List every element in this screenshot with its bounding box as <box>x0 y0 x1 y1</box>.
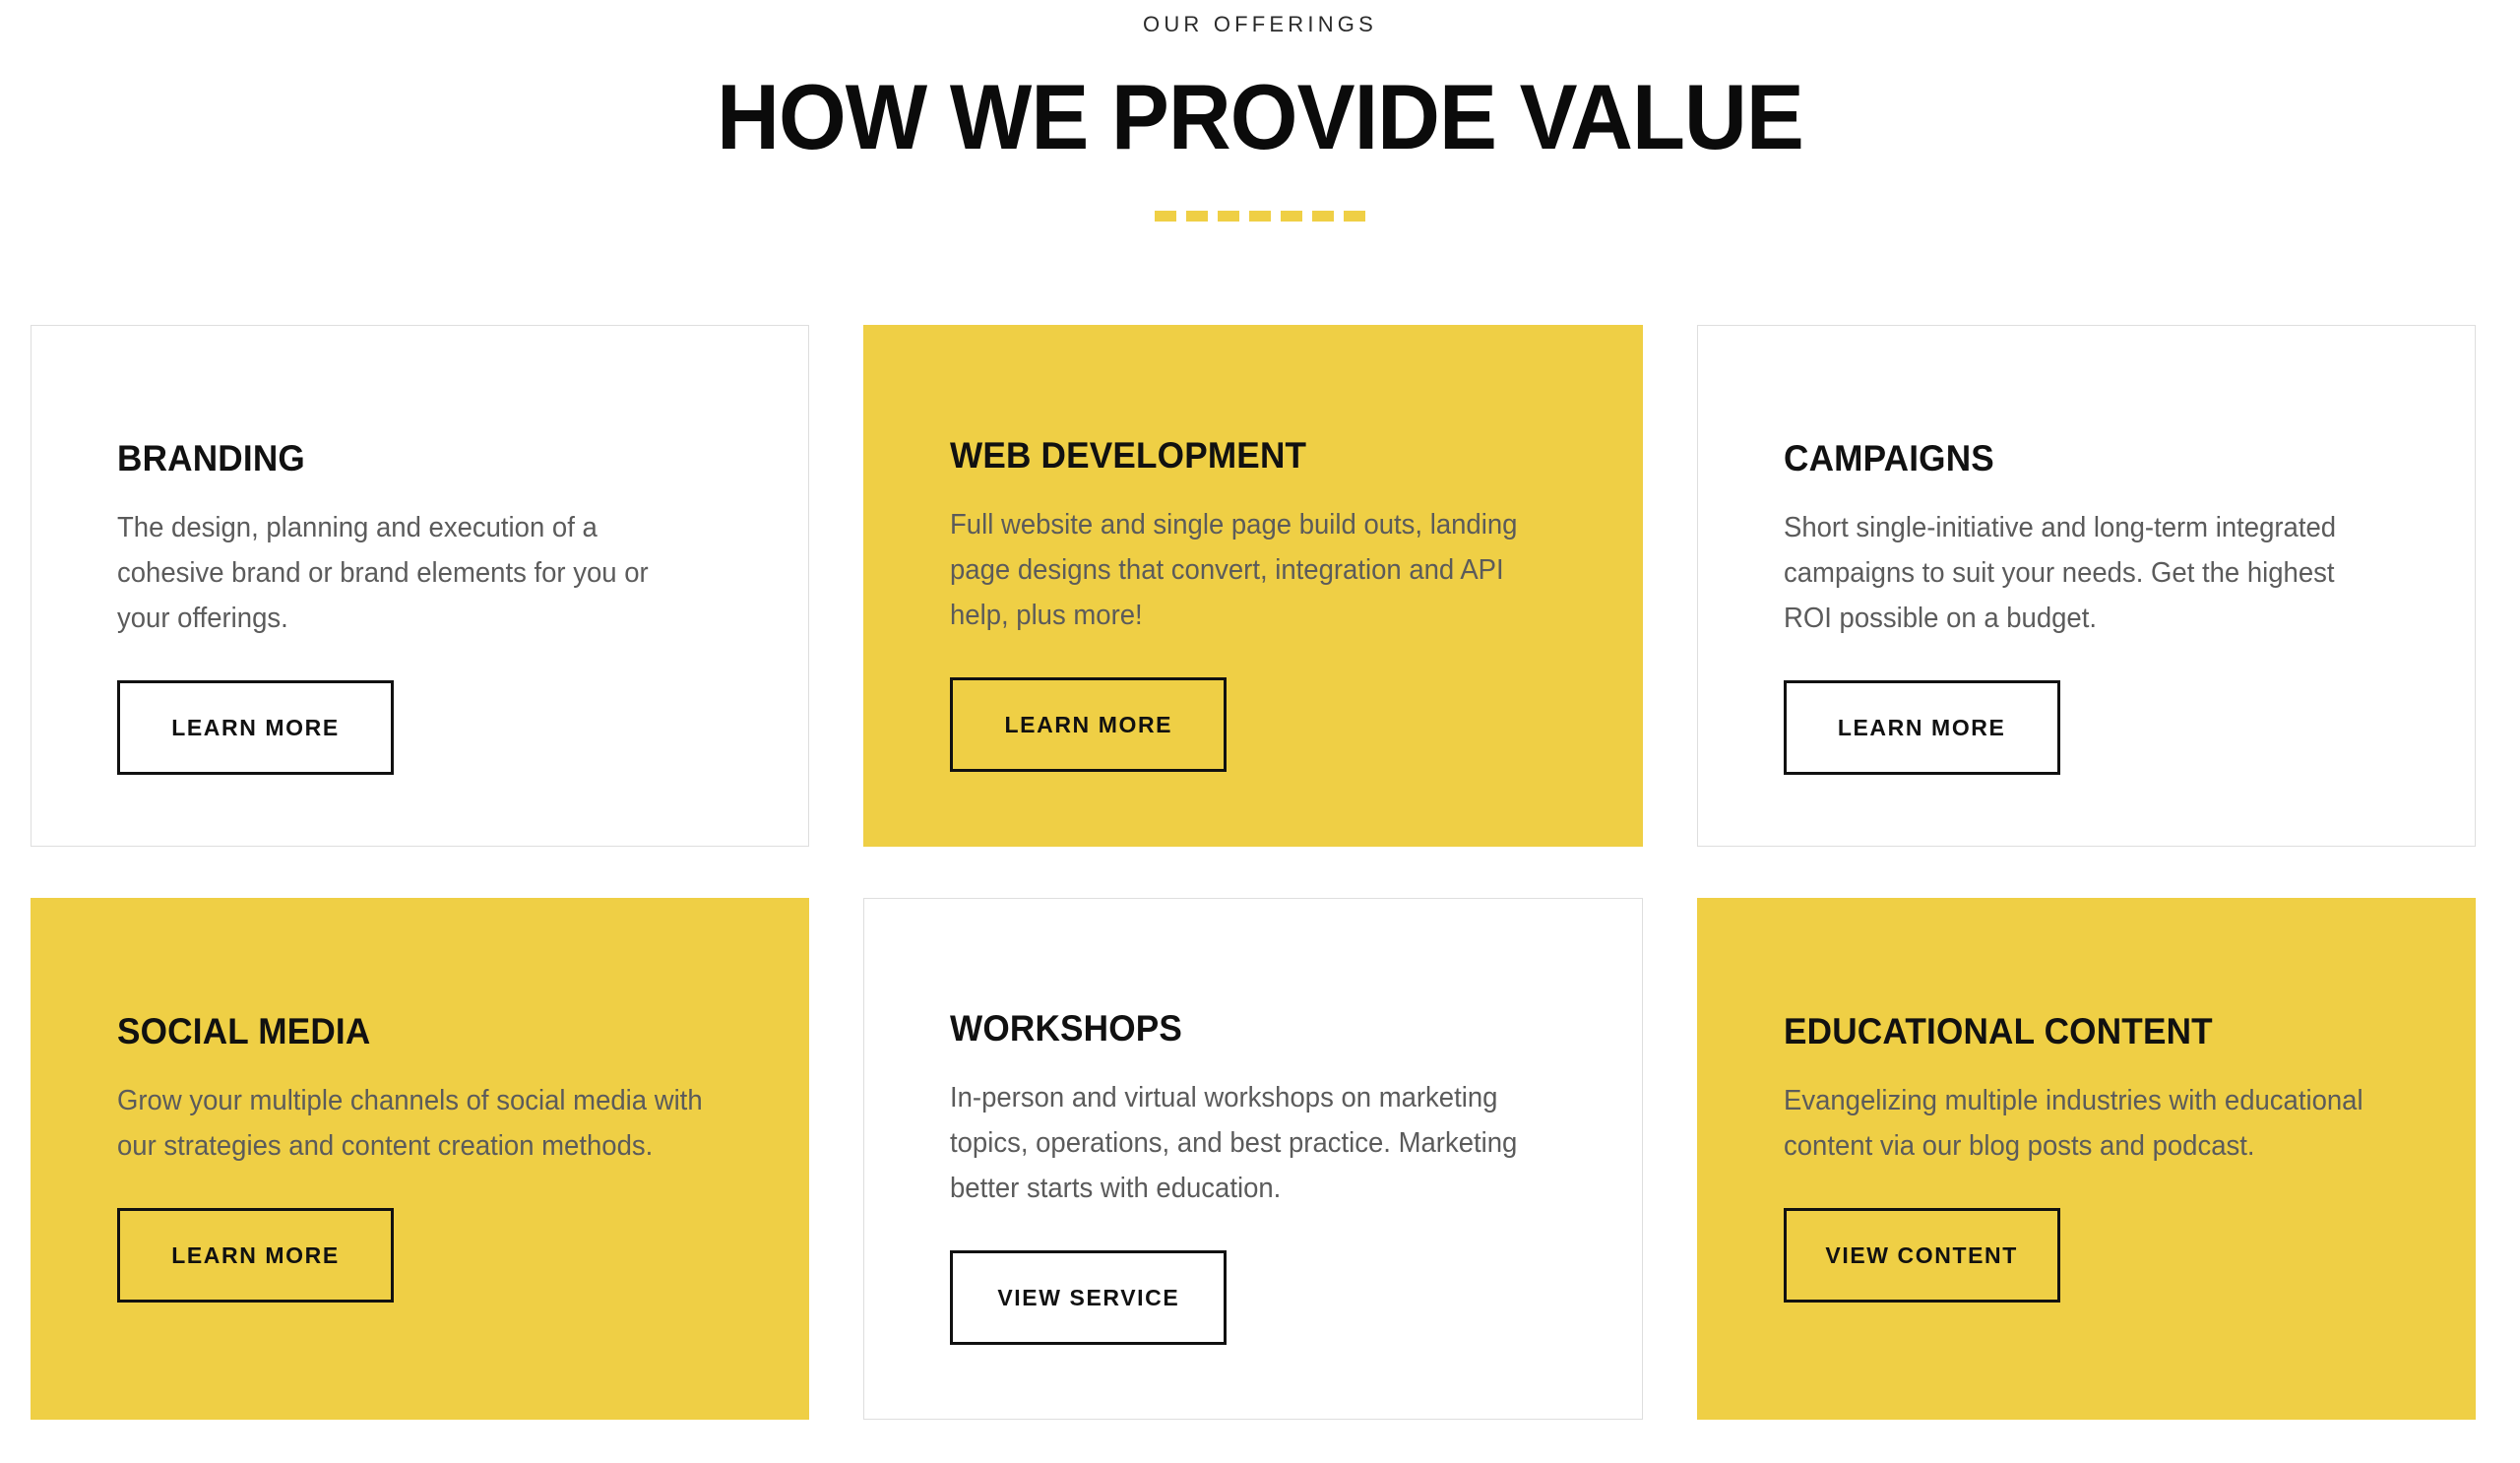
offering-card-cta-button[interactable]: LEARN MORE <box>117 1208 394 1303</box>
divider-dash-icon <box>1155 211 1176 222</box>
offerings-section: OUR OFFERINGS HOW WE PROVIDE VALUE BRAND… <box>0 0 2520 1463</box>
offering-card: WEB DEVELOPMENTFull website and single p… <box>863 325 1642 847</box>
offering-card-title: WEB DEVELOPMENT <box>950 436 1528 477</box>
offering-card-description: Full website and single page build outs,… <box>950 477 1538 638</box>
divider-dash-icon <box>1249 211 1271 222</box>
divider-dash-icon <box>1312 211 1334 222</box>
offering-card: EDUCATIONAL CONTENTEvangelizing multiple… <box>1697 898 2476 1420</box>
page-title: HOW WE PROVIDE VALUE <box>76 35 2444 167</box>
divider-dash-icon <box>1281 211 1302 222</box>
offering-card-title: BRANDING <box>117 439 695 479</box>
offering-card-title: SOCIAL MEDIA <box>117 1012 695 1052</box>
offering-card: CAMPAIGNSShort single-initiative and lon… <box>1697 325 2476 847</box>
offering-card-description: Grow your multiple channels of social me… <box>117 1052 705 1169</box>
divider-dash-icon <box>1218 211 1239 222</box>
offering-card: BRANDINGThe design, planning and executi… <box>31 325 809 847</box>
offering-card-description: In-person and virtual workshops on marke… <box>950 1050 1538 1211</box>
offering-card-description: Short single-initiative and long-term in… <box>1784 479 2371 641</box>
dash-divider <box>0 211 2520 223</box>
section-eyebrow: OUR OFFERINGS <box>0 14 2520 35</box>
section-header: OUR OFFERINGS HOW WE PROVIDE VALUE <box>0 0 2520 223</box>
offering-card-title: WORKSHOPS <box>950 1009 1528 1050</box>
offering-card: WORKSHOPSIn-person and virtual workshops… <box>863 898 1642 1420</box>
divider-dash-icon <box>1344 211 1365 222</box>
offering-card-cta-button[interactable]: LEARN MORE <box>950 677 1227 772</box>
offering-card-title: CAMPAIGNS <box>1784 439 2362 479</box>
offering-card-cta-button[interactable]: VIEW CONTENT <box>1784 1208 2060 1303</box>
offering-card-description: Evangelizing multiple industries with ed… <box>1784 1052 2371 1169</box>
offering-card-title: EDUCATIONAL CONTENT <box>1784 1012 2362 1052</box>
offering-card-description: The design, planning and execution of a … <box>117 479 705 641</box>
offering-card-cta-button[interactable]: VIEW SERVICE <box>950 1250 1227 1345</box>
divider-dash-icon <box>1186 211 1208 222</box>
offerings-card-grid: BRANDINGThe design, planning and executi… <box>31 325 2476 1420</box>
offering-card-cta-button[interactable]: LEARN MORE <box>117 680 394 775</box>
offering-card-cta-button[interactable]: LEARN MORE <box>1784 680 2060 775</box>
offering-card: SOCIAL MEDIAGrow your multiple channels … <box>31 898 809 1420</box>
